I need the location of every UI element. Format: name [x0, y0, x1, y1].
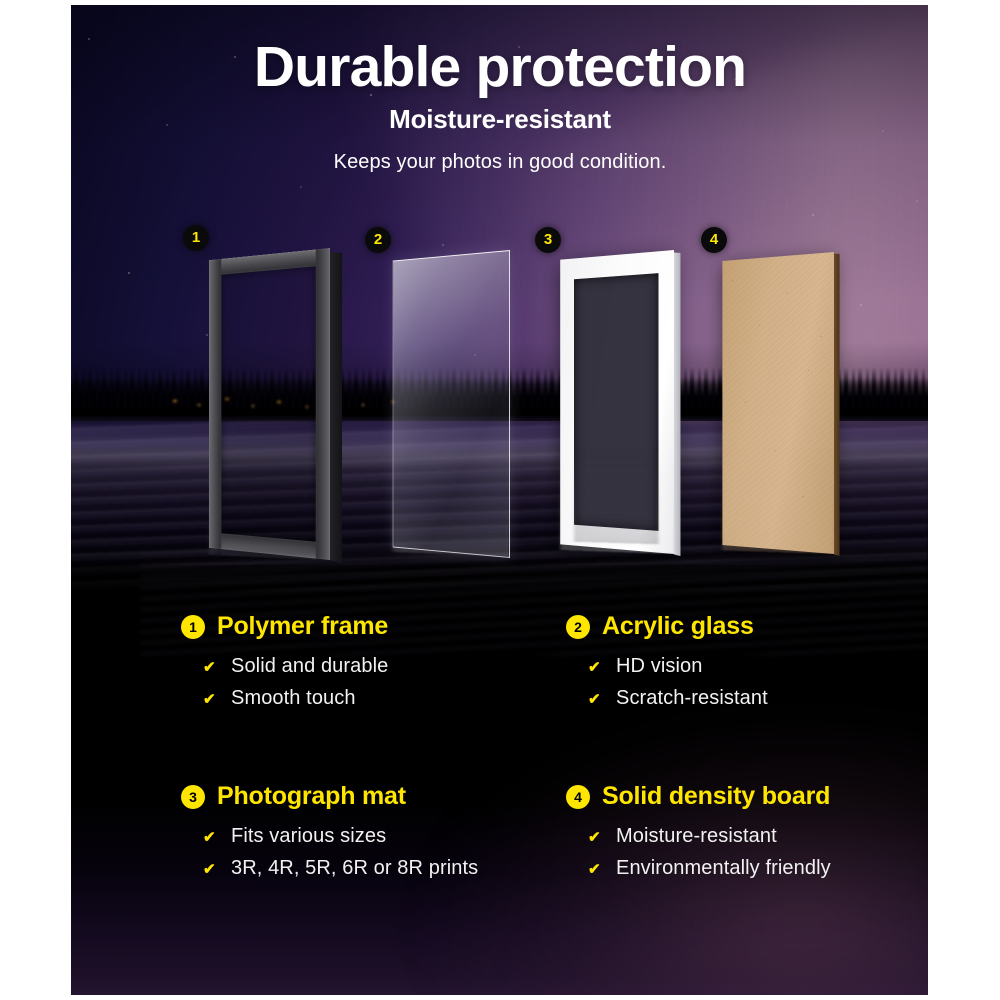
feature-title-1: Polymer frame — [217, 612, 388, 641]
feature-bullet-text: Scratch-resistant — [616, 687, 768, 710]
feature-bullet: ✔ 3R, 4R, 5R, 6R or 8R prints — [181, 857, 551, 880]
feature-bullet-text: HD vision — [616, 655, 702, 678]
feature-bullet: ✔ Scratch-resistant — [566, 687, 936, 710]
feature-list: 1 Polymer frame ✔ Solid and durable ✔ Sm… — [71, 612, 928, 902]
exhibit-badge-1: 1 — [183, 225, 209, 251]
feature-title-3: Photograph mat — [217, 782, 406, 811]
feature-badge-4: 4 — [566, 785, 590, 809]
feature-bullet: ✔ HD vision — [566, 655, 936, 678]
frame-rail-left — [209, 259, 221, 549]
acrylic-glass-panel — [393, 250, 510, 558]
mat-window-opening — [574, 273, 658, 531]
exhibit-badge-3: 3 — [535, 227, 561, 253]
board-fiber-texture — [722, 252, 834, 554]
check-icon: ✔ — [588, 692, 602, 707]
check-icon: ✔ — [203, 830, 217, 845]
check-icon: ✔ — [203, 660, 217, 675]
check-icon: ✔ — [588, 830, 602, 845]
feature-badge-3: 3 — [181, 785, 205, 809]
feature-heading: 2 Acrylic glass — [566, 612, 936, 641]
feature-badge-2: 2 — [566, 615, 590, 639]
feature-bullet: ✔ Fits various sizes — [181, 825, 551, 848]
check-icon: ✔ — [203, 862, 217, 877]
polymer-frame-panel — [209, 248, 330, 560]
feature-bullet-text: Environmentally friendly — [616, 857, 831, 880]
feature-block-acrylic-glass: 2 Acrylic glass ✔ HD vision ✔ Scratch-re… — [566, 612, 936, 719]
check-icon: ✔ — [203, 692, 217, 707]
feature-bullet: ✔ Moisture-resistant — [566, 825, 936, 848]
frame-side-depth — [330, 252, 342, 563]
exhibit-badge-4: 4 — [701, 227, 727, 253]
feature-badge-1: 1 — [181, 615, 205, 639]
feature-bullet-text: Smooth touch — [231, 687, 356, 710]
feature-bullet-text: Moisture-resistant — [616, 825, 777, 848]
feature-bullet-text: 3R, 4R, 5R, 6R or 8R prints — [231, 857, 478, 880]
product-infographic: Durable protection Moisture-resistant Ke… — [0, 0, 1000, 1000]
feature-bullet-text: Solid and durable — [231, 655, 388, 678]
glass-sheen — [393, 251, 509, 557]
feature-title-4: Solid density board — [602, 782, 830, 811]
feature-bullet: ✔ Solid and durable — [181, 655, 551, 678]
feature-bullet-text: Fits various sizes — [231, 825, 386, 848]
feature-block-polymer-frame: 1 Polymer frame ✔ Solid and durable ✔ Sm… — [181, 612, 551, 719]
exhibit-badge-2: 2 — [365, 227, 391, 253]
feature-heading: 1 Polymer frame — [181, 612, 551, 641]
check-icon: ✔ — [588, 862, 602, 877]
feature-title-2: Acrylic glass — [602, 612, 754, 641]
frame-opening — [221, 266, 315, 541]
feature-heading: 3 Photograph mat — [181, 782, 551, 811]
feature-heading: 4 Solid density board — [566, 782, 936, 811]
feature-bullet: ✔ Smooth touch — [181, 687, 551, 710]
photograph-mat-panel — [560, 250, 674, 554]
mat-side-edge — [674, 253, 680, 557]
solid-density-board-panel — [722, 252, 834, 554]
feature-block-solid-density-board: 4 Solid density board ✔ Moisture-resista… — [566, 782, 936, 889]
check-icon: ✔ — [588, 660, 602, 675]
frame-rail-right — [316, 248, 330, 560]
feature-block-photograph-mat: 3 Photograph mat ✔ Fits various sizes ✔ … — [181, 782, 551, 889]
board-side-edge — [834, 254, 840, 556]
feature-bullet: ✔ Environmentally friendly — [566, 857, 936, 880]
